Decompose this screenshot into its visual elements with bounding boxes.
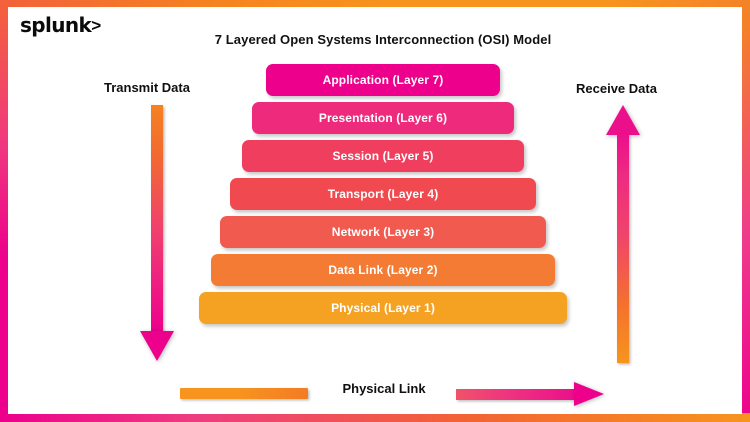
physical-link-bar <box>180 388 308 399</box>
osi-layer-label: Application (Layer 7) <box>323 73 444 87</box>
physical-link-arrow-head <box>574 382 604 406</box>
osi-layer-label: Presentation (Layer 6) <box>319 111 447 125</box>
physical-link-arrow-shaft <box>456 389 576 400</box>
osi-layer-3[interactable]: Network (Layer 3) <box>220 216 546 248</box>
osi-layer-label: Network (Layer 3) <box>332 225 434 239</box>
slide-frame: splunk> 7 Layered Open Systems Interconn… <box>0 0 750 422</box>
osi-layer-2[interactable]: Data Link (Layer 2) <box>211 254 555 286</box>
osi-layer-label: Transport (Layer 4) <box>328 187 439 201</box>
physical-link-arrow-right-icon <box>456 382 604 406</box>
osi-layer-4[interactable]: Transport (Layer 4) <box>230 178 536 210</box>
osi-layer-label: Data Link (Layer 2) <box>328 263 437 277</box>
transmit-arrow-head <box>140 331 174 361</box>
osi-layer-stack: Application (Layer 7)Presentation (Layer… <box>8 64 750 330</box>
osi-layer-1[interactable]: Physical (Layer 1) <box>199 292 567 324</box>
physical-link-row: Physical Link <box>8 379 750 409</box>
physical-link-label: Physical Link <box>324 381 444 396</box>
osi-layer-7[interactable]: Application (Layer 7) <box>266 64 500 96</box>
osi-layer-label: Session (Layer 5) <box>332 149 433 163</box>
page-title: 7 Layered Open Systems Interconnection (… <box>8 32 750 47</box>
osi-layer-label: Physical (Layer 1) <box>331 301 435 315</box>
slide-canvas: splunk> 7 Layered Open Systems Interconn… <box>8 7 742 414</box>
osi-layer-5[interactable]: Session (Layer 5) <box>242 140 524 172</box>
osi-layer-6[interactable]: Presentation (Layer 6) <box>252 102 514 134</box>
